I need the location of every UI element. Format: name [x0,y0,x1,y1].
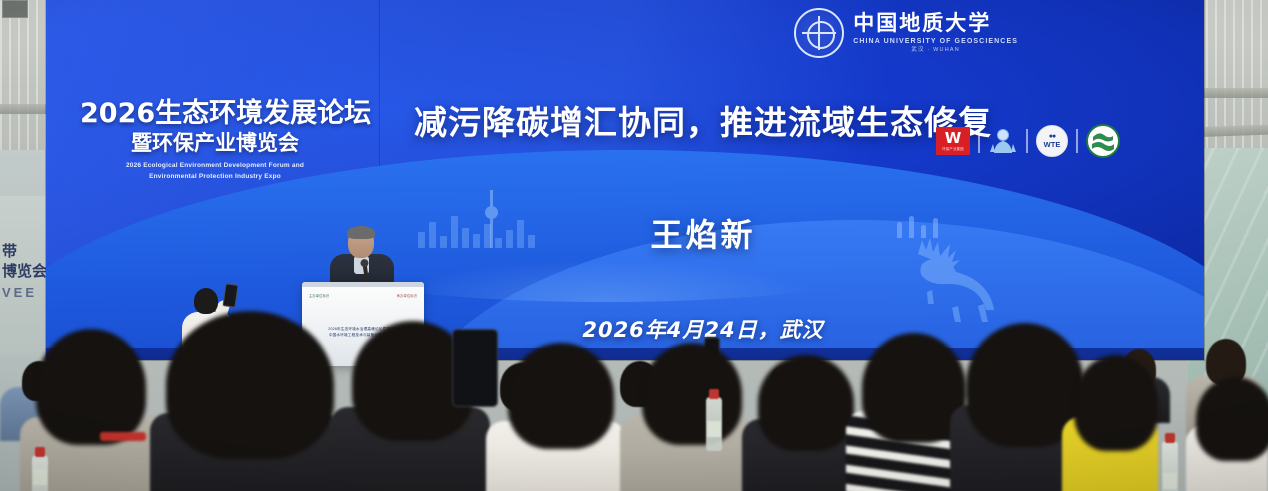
event-title-line1: 2026生态环境发展论坛 [80,100,350,128]
attendee-head [166,311,334,459]
attendee-head [1196,377,1268,461]
side-banner-line2: 博览会 [0,262,48,282]
seal-inner-ring [807,21,835,49]
sponsor-blue-emblem-icon [988,126,1018,156]
podium-top-edge [302,282,424,287]
sponsor-divider-2 [1026,129,1028,153]
university-name-en: CHINA UNIVERSITY OF GEOSCIENCES [853,38,1018,45]
audience-front-row [0,333,1268,491]
water-bottle [706,397,722,451]
wte-top-glyph: ●● [1049,133,1055,140]
raised-smartphone-icon [452,329,498,407]
attendee-head [1074,355,1158,451]
lanyard [100,432,146,441]
university-campus: 武汉 · WUHAN [853,48,1018,54]
speaker-at-podium [322,228,402,290]
university-name-cn: 中国地质大学 [853,13,1018,34]
presentation-speaker-name: 王焰新 [398,210,1008,256]
event-title-line2: 暨环保产业博览会 [80,131,350,155]
event-title-english-line1: 2026 Ecological Environment Development … [80,161,350,171]
sponsor-wte-circle-icon: ●● WTE [1036,125,1068,157]
sponsor-divider-1 [978,129,980,153]
audience [0,291,1268,491]
sponsor-logo-strip: W 环保产业集团 ●● WTE [936,124,1120,158]
sponsor-red-caption: 环保产业集团 [942,146,964,151]
university-logo: 中国地质大学 CHINA UNIVERSITY OF GEOSCIENCES 武… [794,8,1018,58]
water-bottle [32,455,48,491]
presentation-main-title: 减污降碳增汇协同，推进流域生态修复 [398,104,1008,142]
university-text: 中国地质大学 CHINA UNIVERSITY OF GEOSCIENCES 武… [853,13,1018,54]
sponsor-divider-3 [1076,129,1078,153]
event-logo-lockup: 2026生态环境发展论坛 暨环保产业博览会 2026 Ecological En… [80,100,350,182]
attendee-head [508,343,614,449]
sponsor-wte-mark: WTE [1044,141,1061,149]
ceiling-vent [2,0,28,18]
conference-photo-scene: 带 博览会 VEE [0,0,1268,491]
sponsor-green-circle-icon [1086,124,1120,158]
event-title-english-line2: Environmental Protection Industry Expo [80,172,350,182]
water-bottle [1162,441,1178,491]
attendee-head [758,355,854,451]
sponsor-red-square-icon: W 环保产业集团 [936,127,970,155]
side-banner-line1: 带 [0,242,48,262]
attendee-head [36,329,146,445]
sponsor-red-mark: W [945,132,962,144]
attendee-head [642,343,742,445]
speaker-hair [347,226,375,239]
university-seal-icon [794,8,844,58]
